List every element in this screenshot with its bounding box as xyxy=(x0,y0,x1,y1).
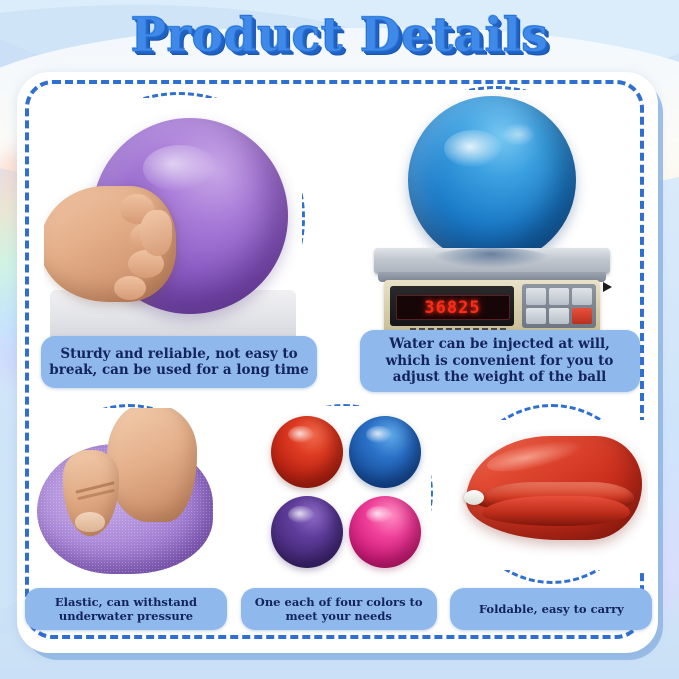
feature-caption-portability: Foldable, easy to carry xyxy=(450,588,652,630)
folded-ball-fold-2 xyxy=(482,496,630,526)
thumbnail xyxy=(75,512,105,532)
feature-cell-elasticity: Elastic, can withstand underwater pressu… xyxy=(17,402,231,652)
four-colored-balls-image xyxy=(255,406,431,582)
features-row-top: Sturdy and reliable, not easy to break, … xyxy=(17,80,658,398)
feature-cell-colors: One each of four colors to meet your nee… xyxy=(231,402,445,652)
page-title: Product Details xyxy=(131,8,549,63)
scale-led-display: 36825 xyxy=(396,295,510,320)
keypad-key-red xyxy=(572,308,592,325)
ball-purple xyxy=(271,496,343,568)
feature-caption-colors: One each of four colors to meet your nee… xyxy=(241,588,437,630)
feature-caption-water-injection: Water can be injected at will, which is … xyxy=(360,330,640,392)
feature-caption-elasticity: Elastic, can withstand underwater pressu… xyxy=(25,588,227,630)
scale-keypad xyxy=(522,284,596,328)
keypad-key xyxy=(549,288,569,305)
features-row-bottom: Elastic, can withstand underwater pressu… xyxy=(17,402,658,652)
knuckle-4 xyxy=(114,276,146,300)
features-grid: Sturdy and reliable, not easy to break, … xyxy=(17,72,658,653)
page-title-area: Product Details xyxy=(0,8,679,63)
keypad-key xyxy=(526,288,546,305)
ball-blue xyxy=(349,416,421,488)
keypad-key xyxy=(526,308,546,325)
fist-pressing-purple-ball-image xyxy=(44,98,302,350)
feature-cell-water-injection: 36825 Water can be injected at will, wh xyxy=(338,80,659,398)
scale-reading-digits: 36825 xyxy=(424,298,480,318)
product-details-infographic: Product Details Stur xyxy=(0,0,679,679)
feature-caption-durability: Sturdy and reliable, not easy to break, … xyxy=(41,336,317,388)
ball-pink xyxy=(349,496,421,568)
blue-ball-on-digital-scale-image: 36825 xyxy=(360,90,628,358)
ball-shadow-on-platform xyxy=(432,248,550,268)
ball-red xyxy=(271,416,343,488)
hand xyxy=(107,408,197,522)
feature-cell-durability: Sturdy and reliable, not easy to break, … xyxy=(17,80,338,398)
folded-red-ball-image xyxy=(458,420,648,570)
thumb xyxy=(140,210,172,256)
hand-stretching-ball-image xyxy=(35,408,223,584)
blue-ball xyxy=(408,96,576,264)
feature-cell-portability: Foldable, easy to carry xyxy=(444,402,658,652)
keypad-key xyxy=(572,288,592,305)
keypad-key xyxy=(549,308,569,325)
pointer-arrow-icon xyxy=(603,282,612,292)
